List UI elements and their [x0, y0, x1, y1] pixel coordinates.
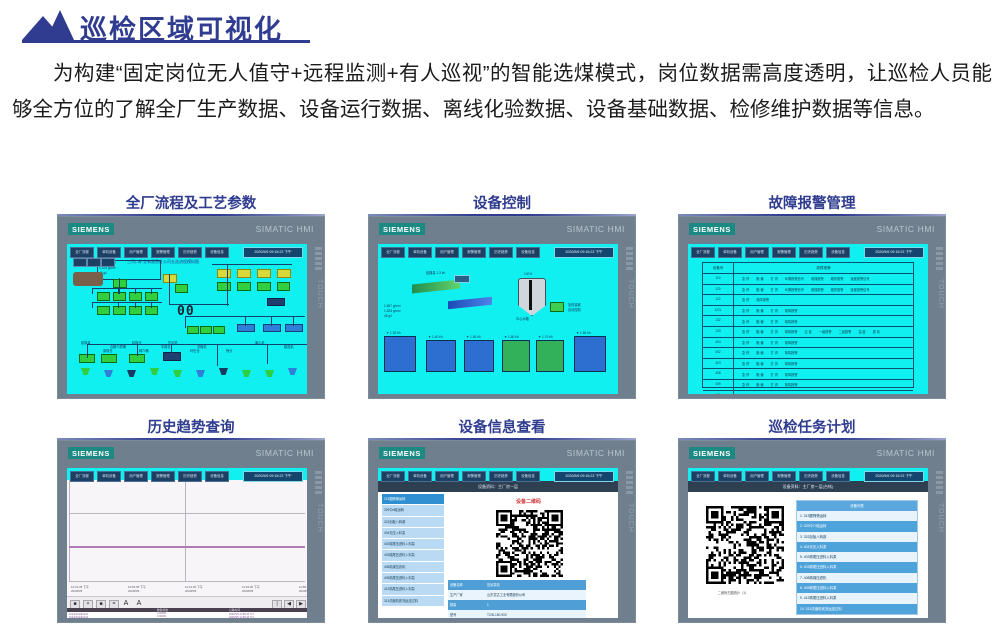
alarm-device-id: 133 — [703, 327, 734, 337]
plan-device-list: 设备列表1. 313圆筛筛运转2. 329中介磁运转3. 322刮板八转部4. … — [796, 500, 918, 615]
nav-button-strip: 全厂流程单机设备用户管理报警管理历史趋势设备信息 — [691, 247, 850, 256]
alarm-cell: 故障报警 — [756, 297, 769, 302]
left-params-1: 1.587 g/cm³ — [384, 304, 401, 308]
flow-label-5: 筛分 — [226, 348, 232, 353]
hopper-5 — [196, 370, 205, 377]
simatic-hmi-label: SIMATIC HMI — [256, 448, 314, 458]
flow-link-17 — [245, 316, 246, 326]
card-caption-0: 全厂流程及工艺参数 — [57, 196, 325, 214]
nav-button-2[interactable]: 用户管理 — [435, 471, 459, 482]
process-node-10 — [175, 284, 188, 293]
device-property-key: 数量 — [448, 600, 484, 610]
process-node-24 — [285, 324, 303, 332]
plan-list-item-7[interactable]: 8. 409精尾压进料入料泵 — [797, 583, 917, 593]
alarm-cell: 堆煤报警 — [811, 276, 824, 281]
alarm-device-id: 110 — [703, 274, 734, 284]
trend-x-tick-0: 10:31:35 下午2020/5/5 — [71, 585, 89, 593]
nav-button-5[interactable]: 设备信息 — [205, 247, 229, 258]
flow-link-11 — [169, 274, 170, 304]
hmi-screen-2: 全厂流程单机设备用户管理报警管理历史趋势设备信息2020/5/6 09:15:2… — [688, 244, 928, 394]
alarm-cell: 急 停 — [742, 361, 749, 366]
siemens-logo: SIEMENS — [379, 223, 425, 235]
hmi-frame-0: SIEMENSSIMATIC HMITOUCH全厂流程单机设备用户管理报警管理历… — [57, 216, 325, 399]
nav-button-1[interactable]: 单机设备 — [97, 247, 121, 258]
siemens-logo: SIEMENS — [689, 447, 735, 459]
alarm-fault-cells: 急 停跑 偏打 滑故障报警 — [734, 306, 913, 316]
alarm-table-row: 402急 停跑 偏打 滑故障报警 — [703, 348, 913, 359]
alarm-cell: 打 滑 — [771, 319, 778, 324]
trend-axis-y — [69, 480, 70, 581]
alarm-fault-cells: 急 停跑 偏打 滑故障报警 — [734, 380, 913, 390]
process-node-17 — [257, 282, 271, 291]
alarm-cell: 一级报警 — [819, 329, 832, 334]
qr-code-title: 设备二维码 — [516, 498, 541, 505]
alarm-cell: 故障报警 — [785, 393, 798, 394]
card-equipment-control: 设备控制SIEMENSSIMATIC HMITOUCH全厂流程单机设备用户管理报… — [368, 196, 636, 399]
flow-link-18 — [271, 316, 272, 326]
hmi-header: SIEMENSSIMATIC HMI — [58, 441, 324, 465]
alarm-cell: 故障报警 — [785, 361, 798, 366]
nav-button-5[interactable]: 设备信息 — [205, 471, 229, 482]
side-button-0[interactable] — [73, 258, 87, 267]
tank-3 — [502, 340, 530, 372]
alarm-cell: 打 滑 — [771, 287, 778, 292]
nav-button-4[interactable]: 历史趋势 — [178, 247, 202, 258]
alarm-cell: 速度报警信号 — [850, 287, 869, 292]
plan-list-item-4[interactable]: 5. 402精尾压进料入料泵 — [797, 552, 917, 562]
alarm-table-row: 403急 停跑 偏打 滑故障报警 — [703, 359, 913, 370]
alarm-cell: 跑 偏 — [756, 393, 763, 394]
device-sidebar-item-0[interactable]: 213圆筛筛运转 — [382, 494, 444, 505]
side-button-2[interactable] — [101, 258, 115, 267]
process-node-26 — [101, 354, 117, 363]
card-caption-1: 设备控制 — [368, 196, 636, 214]
plan-list-item-5[interactable]: 6. 403精尾压进料入料泵 — [797, 562, 917, 572]
nav-button-1[interactable]: 单机设备 — [408, 471, 432, 482]
process-node-0 — [113, 279, 127, 288]
alarm-fault-cells: 急 停跑 偏打 滑故障报警 — [734, 338, 913, 348]
nav-button-5[interactable]: 设备信息 — [826, 247, 850, 258]
nav-button-4[interactable]: 历史趋势 — [178, 471, 202, 482]
device-sidebar-item-3[interactable]: 404无压入料泵 — [382, 528, 444, 539]
trend-x-tick-4: 11:55:35 下午2020/5/5 — [299, 585, 307, 593]
process-node-11 — [217, 269, 231, 278]
process-node-1 — [97, 292, 110, 301]
silo-caption: 中心水箱 — [516, 316, 529, 321]
process-node-28 — [163, 352, 181, 361]
tank-4 — [536, 340, 564, 372]
nav-button-1[interactable]: 单机设备 — [718, 471, 742, 482]
trend-toolbar-button-4[interactable]: A — [122, 600, 130, 608]
card-process-flow: 全厂流程及工艺参数SIEMENSSIMATIC HMITOUCH全厂流程单机设备… — [57, 196, 325, 399]
alarm-cell: 急 停 — [742, 319, 749, 324]
process-node-18 — [277, 282, 290, 291]
alarm-fault-cells: 急 停跑 偏打 滑故障报警 — [734, 369, 913, 379]
flow-link-13 — [227, 264, 228, 306]
qr-scan-caption: 二维码扫描统计（1） — [688, 590, 778, 595]
process-node-12 — [237, 269, 251, 278]
silo-level-indicator — [529, 280, 532, 310]
flow-link-23 — [171, 344, 172, 354]
nav-button-0[interactable]: 全厂流程 — [70, 471, 94, 482]
card-caption-4: 设备信息查看 — [368, 420, 636, 438]
nav-button-0[interactable]: 全厂流程 — [691, 471, 715, 482]
process-node-21 — [213, 326, 225, 334]
conveyor-2 — [448, 297, 492, 310]
nav-button-3[interactable]: 报警管理 — [772, 247, 796, 258]
alarm-fault-cells: 急 停故障报警 — [734, 295, 913, 305]
hmi-screen-4: 全厂流程单机设备用户管理报警管理历史趋势设备信息2020/5/6 09:15:2… — [378, 468, 618, 618]
alarm-cell: 急 停 — [742, 372, 749, 377]
clock-display: 2020/5/6 09:15:23 下午 — [554, 247, 614, 258]
alarm-device-id: 132 — [703, 316, 734, 326]
process-node-15 — [217, 282, 231, 291]
nav-button-4[interactable]: 历史趋势 — [489, 471, 513, 482]
siemens-logo: SIEMENS — [689, 223, 735, 235]
alarm-cell: 打 滑 — [771, 361, 778, 366]
flow-link-4 — [135, 288, 136, 294]
plan-title-bar: 设备资料：主厂房一层(台帐) — [688, 481, 928, 492]
nav-button-2[interactable]: 用户管理 — [124, 247, 148, 258]
conveyor-1 — [412, 279, 460, 293]
trend-legend: 数值/状态日期/时间101皮带电机电流0.000002020/5/5 11:58… — [67, 608, 307, 618]
alarm-device-id: 122L — [703, 306, 734, 316]
device-property-value: 1 — [484, 600, 586, 610]
flow-link-8 — [118, 302, 119, 308]
flow-label-6: 离心机 — [255, 340, 265, 345]
alarm-cell: 急 停 — [742, 287, 749, 292]
clock-display: 2020/5/6 09:15:23 下午 — [243, 471, 303, 482]
plan-list-item-6[interactable]: 7. 408精煤压滤机 — [797, 573, 917, 583]
device-sidebar-item-8[interactable]: 412精尾压进料入料泵 — [382, 584, 444, 595]
touch-bezel-label: TOUCH — [314, 251, 323, 337]
hopper-4 — [173, 370, 182, 377]
side-button-1[interactable] — [87, 258, 101, 267]
touch-bezel-label: TOUCH — [935, 251, 944, 337]
trend-chart-area: 10:31:35 下午2020/5/510:52:35 下午2020/5/511… — [67, 480, 307, 596]
plan-list-item-2[interactable]: 3. 322刮板八转部 — [797, 532, 917, 542]
card-caption-2: 故障报警管理 — [678, 196, 946, 214]
hopper-2 — [127, 370, 136, 377]
flow-link-7 — [92, 302, 93, 308]
nav-button-3[interactable]: 报警管理 — [462, 247, 486, 258]
trend-axis-x — [69, 581, 305, 582]
alarm-cell: 打 滑 — [771, 350, 778, 355]
flow-label-2: 稀介桶 — [139, 348, 149, 353]
device-sidebar-item-6[interactable]: 408精煤压滤机 — [382, 562, 444, 573]
hopper-8 — [265, 370, 274, 377]
nav-button-1[interactable]: 单机设备 — [408, 247, 432, 258]
device-property-key: 设备名称 — [448, 580, 484, 590]
flow-link-25 — [267, 344, 268, 364]
flow-link-22 — [137, 344, 138, 356]
process-node-22 — [237, 324, 255, 332]
hmi-frame-3: SIEMENSSIMATIC HMITOUCH全厂流程单机设备用户管理报警管理历… — [57, 440, 325, 623]
alarm-header-fault: 故障报警 — [734, 263, 913, 273]
card-device-info: 设备信息查看SIEMENSSIMATIC HMITOUCH全厂流程单机设备用户管… — [368, 420, 636, 623]
alarm-cell: 急 停 — [742, 297, 749, 302]
alarm-cell: 二级报警 — [839, 329, 852, 334]
trend-series-line — [69, 546, 305, 548]
device-icon — [73, 272, 103, 286]
nav-button-0[interactable]: 全厂流程 — [691, 247, 715, 258]
page-title-block: 巡检区域可视化 — [22, 6, 312, 44]
siemens-logo: SIEMENS — [68, 223, 114, 235]
alarm-table-row: 410急 停跑 偏打 滑故障报警 — [703, 391, 913, 394]
device-sidebar-item-1[interactable]: 329中ర磁运转 — [382, 505, 444, 516]
alarm-fault-cells: 急 停跑 偏打 滑故障报警 — [734, 316, 913, 326]
process-node-19 — [187, 326, 199, 334]
alarm-cell: 跑 偏 — [756, 340, 763, 345]
nav-button-1[interactable]: 单机设备 — [97, 471, 121, 482]
alarm-cell: 打 滑 — [771, 329, 778, 334]
tank-label-4: ▼ 1.70 t/h — [538, 335, 553, 339]
alarm-cell: 急 停 — [742, 340, 749, 345]
alarm-cell: 故障报警 — [785, 308, 798, 313]
alarm-cell: 打 滑 — [771, 276, 778, 281]
hmi-screen-1: 全厂流程单机设备用户管理报警管理历史趋势设备信息2020/5/6 09:15:2… — [378, 244, 618, 394]
hmi-frame-1: SIEMENSSIMATIC HMITOUCH全厂流程单机设备用户管理报警管理历… — [368, 216, 636, 399]
alarm-cell: 故障报警 — [785, 319, 798, 324]
plan-list-item-0[interactable]: 1. 313圆筛筛运转 — [797, 511, 917, 521]
simatic-hmi-label: SIMATIC HMI — [877, 448, 935, 458]
flow-label-7: 磁选机 — [284, 344, 294, 349]
alarm-device-id: 404 — [703, 338, 734, 348]
alarm-cell: 跑 偏 — [756, 382, 763, 387]
tank-1 — [426, 340, 456, 372]
hopper-7 — [242, 370, 251, 377]
nav-button-4[interactable]: 历史趋势 — [799, 471, 823, 482]
nav-button-strip: 全厂流程单机设备用户管理报警管理历史趋势设备信息 — [381, 247, 540, 256]
touch-bezel-label: TOUCH — [314, 475, 323, 561]
flow-label-10: 中煤仓 — [161, 344, 171, 349]
flow-link-9 — [135, 302, 136, 308]
alarm-table-row: 110急 停跑 偏打 滑纵撕报警信号堆煤报警烟雾报警速度报警信号 — [703, 274, 913, 285]
flow-link-19 — [293, 316, 294, 326]
process-node-23 — [263, 324, 281, 332]
plan-list-item-9[interactable]: 10. 313浓缩机底流运送过料 — [797, 604, 917, 614]
alarm-table: 设备号故障报警110急 停跑 偏打 滑纵撕报警信号堆煤报警烟雾报警速度报警信号1… — [702, 262, 914, 388]
nav-button-0[interactable]: 全厂流程 — [70, 247, 94, 258]
hmi-frame-4: SIEMENSSIMATIC HMITOUCH全厂流程单机设备用户管理报警管理历… — [368, 440, 636, 623]
flow-link-2 — [92, 288, 93, 294]
alarm-cell: 故障报警 — [785, 340, 798, 345]
device-property-row: 数量1 — [448, 600, 586, 610]
flow-link-3 — [118, 288, 119, 294]
flow-link-14 — [212, 264, 292, 265]
alarm-cell: 打 滑 — [771, 393, 778, 394]
plan-list-item-3[interactable]: 4. 404无压入料泵 — [797, 542, 917, 552]
device-property-row: 型号TZ/B-150-900 — [448, 610, 586, 618]
nav-button-5[interactable]: 设备信息 — [516, 247, 540, 258]
plan-list-item-8[interactable]: 9. 412精尾压进料入料泵 — [797, 593, 917, 603]
pump-node — [550, 302, 564, 312]
alarm-cell: 打 滑 — [771, 340, 778, 345]
process-node-29 — [267, 298, 285, 306]
process-node-16 — [237, 282, 251, 291]
alarm-device-id: 403 — [703, 359, 734, 369]
slide-page: 巡检区域可视化 为构建“固定岗位无人值守+远程监测+有人巡视”的智能选煤模式，岗… — [0, 0, 1005, 634]
flow-label-9: 精煤仓 — [132, 340, 142, 345]
trend-x-tick-2: 11:13:35 下午2020/5/5 — [185, 585, 203, 593]
hmi-header: SIEMENSSIMATIC HMI — [58, 217, 324, 241]
flow-link-5 — [151, 288, 152, 294]
flow-label-8: 原煤仓 — [103, 348, 113, 353]
hopper-9 — [288, 368, 297, 375]
title-underline — [22, 40, 310, 43]
card-trend-chart: 历史趋势查询SIEMENSSIMATIC HMITOUCH全厂流程单机设备用户管… — [57, 420, 325, 623]
touch-bezel-label: TOUCH — [625, 475, 634, 561]
alarm-cell: 打 滑 — [771, 382, 778, 387]
nav-button-3[interactable]: 报警管理 — [772, 471, 796, 482]
alarm-table-row: 408急 停跑 偏打 滑故障报警 — [703, 369, 913, 380]
alarm-fault-cells: 急 停跑 偏打 滑故障报警 — [734, 391, 913, 394]
alarm-table-row: 122L急 停跑 偏打 滑故障报警 — [703, 306, 913, 317]
nav-button-1[interactable]: 单机设备 — [718, 247, 742, 258]
nav-button-3[interactable]: 报警管理 — [151, 247, 175, 258]
alarm-cell: 打 滑 — [771, 308, 778, 313]
device-sidebar-item-7[interactable]: 409精尾压进料入料泵 — [382, 573, 444, 584]
flow-link-0 — [119, 278, 120, 294]
nav-button-3[interactable]: 报警管理 — [151, 471, 175, 482]
silo-vessel — [518, 278, 546, 316]
alarm-cell: 纵撕报警信号 — [785, 287, 804, 292]
alarm-table-row: 409急 停跑 偏打 滑故障报警 — [703, 380, 913, 391]
trend-x-tick-3: 11:34:35 下午2020/5/5 — [242, 585, 260, 593]
nav-button-2[interactable]: 用户管理 — [745, 471, 769, 482]
nav-button-strip: 全厂流程单机设备用户管理报警管理历史趋势设备信息 — [70, 471, 229, 480]
trend-toolbar-button-5[interactable]: A — [135, 600, 143, 608]
auto-label: 自动控制 — [568, 307, 581, 312]
device-property-value: TZ/B-150-900 — [484, 610, 586, 618]
mountain-triangle-icon-2 — [46, 10, 74, 40]
siemens-logo: SIEMENS — [68, 447, 114, 459]
process-node-5 — [97, 306, 110, 315]
clock-display: 2020/5/6 09:15:23 下午 — [554, 471, 614, 482]
intro-paragraph: 为构建“固定岗位无人值守+远程监测+有人巡视”的智能选煤模式，岗位数据需高度透明… — [12, 56, 992, 128]
plan-qr-code — [706, 506, 784, 584]
device-sidebar-item-2[interactable]: 322刮板八转部 — [382, 517, 444, 528]
nav-button-2[interactable]: 用户管理 — [745, 247, 769, 258]
nav-button-strip: 全厂流程单机设备用户管理报警管理历史趋势设备信息 — [381, 471, 540, 480]
alarm-device-id: 410 — [703, 391, 734, 394]
nav-button-strip: 全厂流程单机设备用户管理报警管理历史趋势设备信息 — [691, 471, 850, 480]
nav-button-0[interactable]: 全厂流程 — [381, 471, 405, 482]
simatic-hmi-label: SIMATIC HMI — [877, 224, 935, 234]
nav-button-5[interactable]: 设备信息 — [826, 471, 850, 482]
device-property-row: 设备名称压滤泵机 — [448, 580, 586, 590]
nav-button-0[interactable]: 全厂流程 — [381, 247, 405, 258]
nav-button-2[interactable]: 用户管理 — [435, 247, 459, 258]
hopper-1 — [104, 370, 113, 377]
device-sidebar-item-9[interactable]: 313浓缩机底流运送过料 — [382, 596, 444, 607]
touch-bezel-label: TOUCH — [935, 475, 944, 561]
hopper-3 — [150, 368, 159, 375]
process-node-13 — [257, 269, 271, 278]
alarm-cell: 跑 偏 — [756, 276, 763, 281]
alarm-device-id: 402 — [703, 348, 734, 358]
alarm-cell: 跑 偏 — [756, 350, 763, 355]
tank-label-1: ▼ 1.40 t/h — [428, 335, 443, 339]
counter-display: 00 — [177, 304, 195, 319]
alarm-cell: 烟雾报警 — [831, 276, 844, 281]
tank-0 — [384, 336, 416, 372]
hmi-frame-2: SIEMENSSIMATIC HMITOUCH全厂流程单机设备用户管理报警管理历… — [678, 216, 946, 399]
hmi-header: SIEMENSSIMATIC HMI — [369, 217, 635, 241]
alarm-table-row: 132急 停跑 偏打 滑故障报警 — [703, 316, 913, 327]
device-property-key: 生产厂家 — [448, 590, 484, 600]
tank-5 — [574, 336, 606, 372]
alarm-cell: 过 载 — [805, 329, 812, 334]
alarm-cell: 烟雾报警 — [831, 287, 844, 292]
left-params-2: 1.325 g/cm³ — [384, 309, 401, 313]
alarm-cell: 打 滑 — [771, 372, 778, 377]
alarm-header-device-no: 设备号 — [703, 263, 734, 273]
plan-body: 二维码扫描统计（1）设备列表1. 313圆筛筛运转2. 329中介磁运转3. 3… — [688, 492, 928, 618]
hmi-screen-0: 全厂流程单机设备用户管理报警管理历史趋势设备信息2020/5/6 09:15:2… — [67, 244, 307, 394]
alarm-device-id: 122 — [703, 295, 734, 305]
alarm-cell: 故障报警 — [785, 329, 798, 334]
device-property-key: 型号 — [448, 610, 484, 618]
flow-link-24 — [217, 344, 218, 366]
tank-2 — [464, 340, 494, 372]
plan-list-item-1[interactable]: 2. 329中介磁运转 — [797, 521, 917, 531]
alarm-device-id: 408 — [703, 369, 734, 379]
simatic-hmi-label: SIMATIC HMI — [567, 448, 625, 458]
alarm-device-id: 409 — [703, 380, 734, 390]
trend-gridline-v-0 — [185, 480, 186, 581]
clock-display: 2020/5/6 09:15:23 下午 — [243, 247, 303, 258]
alarm-cell: 跑 偏 — [756, 372, 763, 377]
flow-label-11: 矸石仓 — [190, 348, 200, 353]
nav-button-2[interactable]: 用户管理 — [124, 471, 148, 482]
clock-display: 2020/5/6 09:15:23 下午 — [864, 247, 924, 258]
alarm-cell: 跑 偏 — [756, 361, 763, 366]
device-qr-code — [496, 510, 563, 577]
simatic-hmi-label: SIMATIC HMI — [256, 224, 314, 234]
card-caption-5: 巡检任务计划 — [678, 420, 946, 438]
alarm-cell: 跑 偏 — [756, 308, 763, 313]
alarm-cell: 速度报警信号 — [850, 276, 869, 281]
process-node-20 — [200, 326, 212, 334]
card-inspection-plan: 巡检任务计划SIEMENSSIMATIC HMITOUCH全厂流程单机设备用户管… — [678, 420, 946, 623]
alarm-cell: 急 停 — [742, 308, 749, 313]
flow-label-0: 给煤量 — [81, 340, 91, 345]
touch-bezel-label: TOUCH — [625, 251, 634, 337]
card-caption-3: 历史趋势查询 — [57, 420, 325, 438]
nav-button-5[interactable]: 设备信息 — [516, 471, 540, 482]
alarm-cell: 故障报警 — [785, 372, 798, 377]
hmi-header: SIEMENSSIMATIC HMI — [369, 441, 635, 465]
hmi-header: SIEMENSSIMATIC HMI — [679, 441, 945, 465]
nav-button-strip: 全厂流程单机设备用户管理报警管理历史趋势设备信息 — [70, 247, 229, 256]
nav-button-4[interactable]: 历史趋势 — [489, 247, 513, 258]
siemens-logo: SIEMENS — [379, 447, 425, 459]
device-title-bar: 设备资料：主厂房一层 — [378, 481, 618, 492]
hopper-0 — [81, 368, 90, 375]
nav-button-3[interactable]: 报警管理 — [462, 471, 486, 482]
left-params-3: 45 g/l — [384, 314, 392, 318]
device-sidebar-item-5[interactable]: 403磁尾压进料入料泵 — [382, 550, 444, 561]
alarm-table-header-row: 设备号故障报警 — [703, 263, 913, 274]
trend-gridline-h-0 — [69, 513, 305, 514]
simatic-hmi-label: SIMATIC HMI — [567, 224, 625, 234]
tank-label-2: ▼ 1.50 t/h — [466, 335, 481, 339]
nav-button-4[interactable]: 历史趋势 — [799, 247, 823, 258]
alarm-table-row: 133急 停跑 偏打 滑故障报警过 载一级报警二级报警温 度振 动 — [703, 327, 913, 338]
control-tag-1[interactable] — [454, 275, 470, 283]
device-sidebar-item-4[interactable]: 402磁尾压进料入料泵 — [382, 539, 444, 550]
